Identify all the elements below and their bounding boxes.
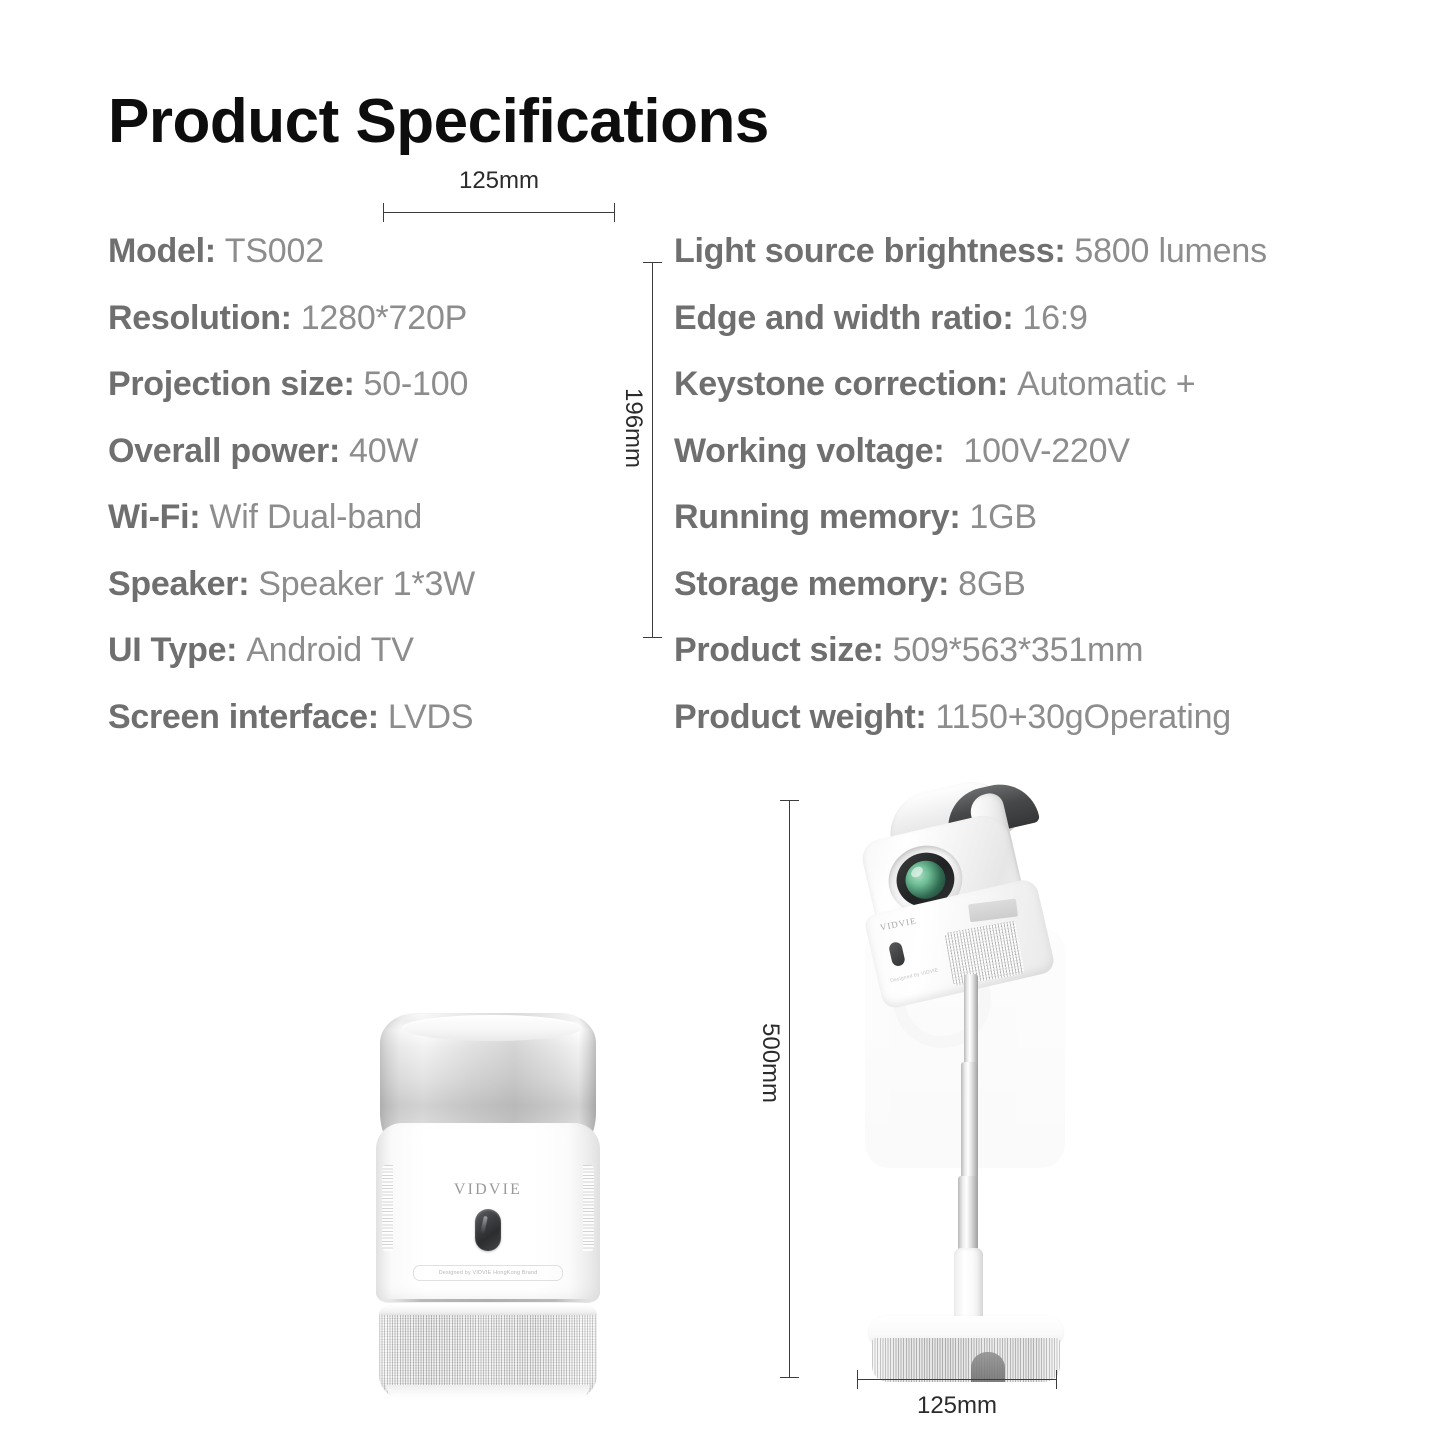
spec-value: Wif Dual-band — [209, 498, 422, 537]
spec-label: UI Type: — [108, 631, 237, 670]
spec-row: Light source brightness: 5800 lumens — [674, 232, 1394, 299]
lens-glass-icon — [902, 857, 950, 903]
spec-row: Product weight: 1150+30gOperating — [674, 698, 1394, 765]
spec-row: Product size: 509*563*351mm — [674, 631, 1394, 698]
spec-label: Light source brightness: — [674, 232, 1065, 271]
spec-value: LVDS — [388, 698, 474, 737]
dimension-line-height-left — [652, 262, 653, 638]
spec-value: 5800 lumens — [1074, 232, 1267, 271]
product-brand-label: VIDVIE — [376, 1181, 600, 1199]
spec-row: Projection size: 50-100 — [108, 365, 668, 432]
spec-label: Screen interface: — [108, 698, 379, 737]
side-badge — [968, 898, 1018, 922]
spec-row: Screen interface: LVDS — [108, 698, 668, 765]
spec-row: Working voltage: 100V-220V — [674, 432, 1394, 499]
telescopic-pole-segment-top — [964, 974, 978, 1066]
spec-value: 1GB — [969, 498, 1036, 537]
vent-grille-right-icon — [583, 1165, 594, 1251]
dimension-line-width-left — [383, 212, 615, 213]
spec-label: Resolution: — [108, 299, 292, 338]
spec-row: UI Type: Android TV — [108, 631, 668, 698]
spec-label: Product size: — [674, 631, 884, 670]
speaker-rim — [379, 1305, 597, 1315]
dimension-label-height-left: 196mm — [619, 388, 647, 468]
product-image-stand-projector: VIDVIE Designed by VIDVIE — [845, 778, 1105, 1378]
spec-row: Running memory: 1GB — [674, 498, 1394, 565]
dimension-label-base-width-right: 125mm — [857, 1392, 1057, 1420]
spec-row: Overall power: 40W — [108, 432, 668, 499]
product-images-section: VIDVIE Designed by VIDVIE HongKong Brand — [0, 760, 1445, 1445]
spec-row: Resolution: 1280*720P — [108, 299, 668, 366]
spec-row: Keystone correction: Automatic + — [674, 365, 1394, 432]
dimension-label-width-left: 125mm — [383, 167, 615, 195]
telescopic-pole-segment-middle — [961, 1062, 978, 1180]
spec-value: TS002 — [225, 232, 324, 271]
dimension-line-height-right — [789, 800, 790, 1378]
page-title: Product Specifications — [108, 88, 769, 156]
speaker-bottom-edge — [386, 1385, 590, 1401]
dimension-label-height-right: 500mm — [756, 1023, 784, 1103]
designed-by-label: Designed by VIDVIE HongKong Brand — [413, 1265, 563, 1281]
spec-value: 1280*720P — [301, 299, 467, 338]
spec-value: Speaker 1*3W — [258, 565, 475, 604]
spec-label: Projection size: — [108, 365, 354, 404]
spec-value: Automatic + — [1017, 365, 1195, 404]
spec-row: Speaker: Speaker 1*3W — [108, 565, 668, 632]
spec-label: Wi-Fi: — [108, 498, 200, 537]
spec-label: Keystone correction: — [674, 365, 1008, 404]
spec-label: Edge and width ratio: — [674, 299, 1013, 338]
spec-value: 509*563*351mm — [893, 631, 1144, 670]
body-seam-divider — [384, 1299, 592, 1302]
stand-base-mesh-band — [872, 1338, 1060, 1382]
spec-value: 8GB — [958, 565, 1025, 604]
projector-body: VIDVIE Designed by VIDVIE HongKong Brand — [376, 1123, 600, 1303]
spec-label: Speaker: — [108, 565, 249, 604]
spec-row: Wi-Fi: Wif Dual-band — [108, 498, 668, 565]
spec-value: 16:9 — [1022, 299, 1087, 338]
spec-label: Running memory: — [674, 498, 960, 537]
spec-value: Android TV — [246, 631, 413, 670]
spec-label: Overall power: — [108, 432, 340, 471]
designed-by-microtext: Designed by VIDVIE — [890, 967, 939, 984]
spec-column-right: Light source brightness: 5800 lumens Edg… — [674, 232, 1394, 764]
spec-label: Product weight: — [674, 698, 926, 737]
spec-label: Working voltage: — [674, 432, 944, 471]
spec-value: 100V-220V — [963, 432, 1129, 471]
ir-sensor-icon — [888, 941, 906, 967]
vent-grille-left-icon — [382, 1165, 393, 1251]
product-image-cylinder-projector: VIDVIE Designed by VIDVIE HongKong Brand — [376, 1013, 600, 1401]
spec-row: Model: TS002 — [108, 232, 668, 299]
spec-label: Storage memory: — [674, 565, 949, 604]
vent-grille-icon — [944, 921, 1024, 987]
spec-row: Storage memory: 8GB — [674, 565, 1394, 632]
spec-value: 40W — [349, 432, 418, 471]
spec-value: 1150+30gOperating — [935, 698, 1231, 737]
spec-value: 50-100 — [363, 365, 468, 404]
spec-label: Model: — [108, 232, 216, 271]
ir-sensor-icon — [475, 1209, 501, 1251]
projector-top-lip — [402, 1015, 582, 1041]
spec-row: Edge and width ratio: 16:9 — [674, 299, 1394, 366]
dimension-line-base-width-right — [857, 1379, 1057, 1380]
stand-base-notch — [971, 1352, 1005, 1382]
product-brand-label: VIDVIE — [879, 916, 917, 933]
spec-column-left: Model: TS002 Resolution: 1280*720P Proje… — [108, 232, 668, 764]
